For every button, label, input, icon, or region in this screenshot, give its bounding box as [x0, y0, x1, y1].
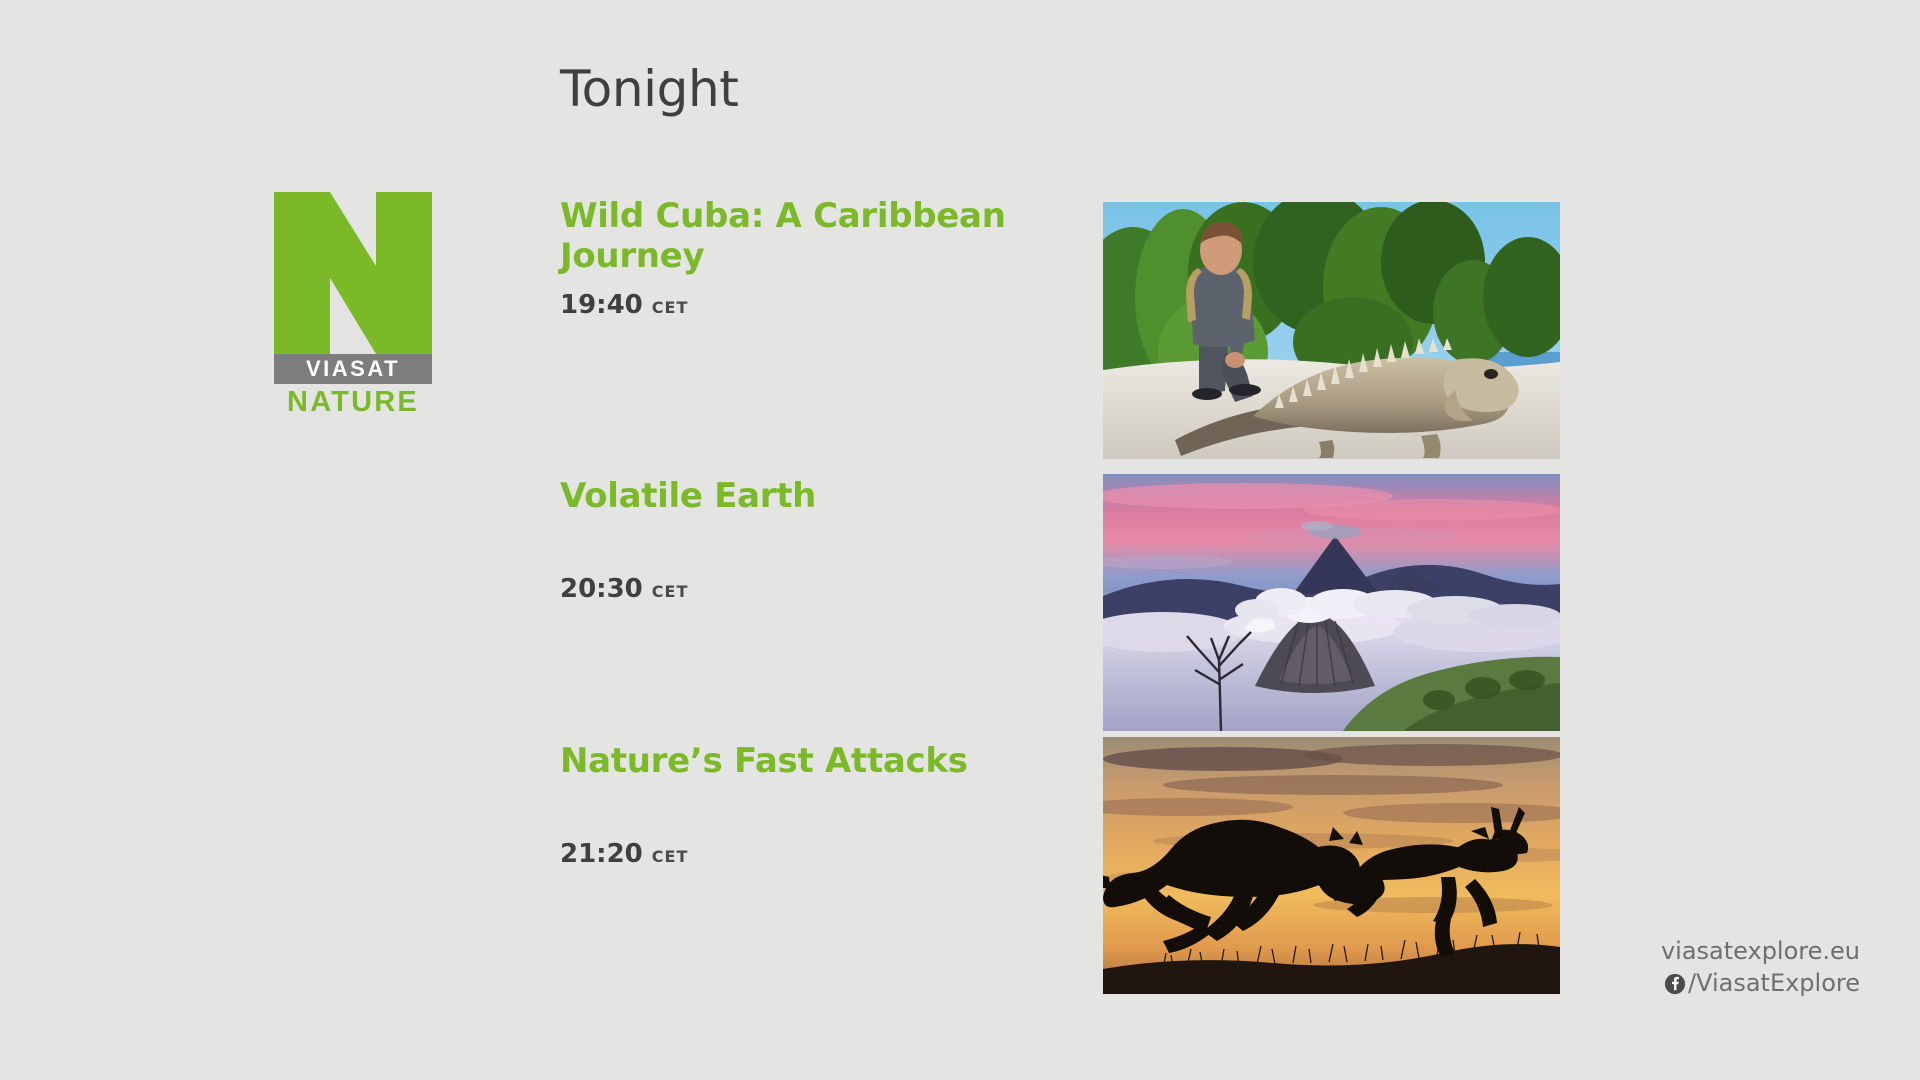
list-item[interactable]: Wild Cuba: A Caribbean Journey 19:40 CET: [560, 196, 1080, 320]
program-time-row: 19:40 CET: [560, 290, 1080, 320]
program-thumbnail-natures-fast-attacks[interactable]: [1103, 737, 1560, 994]
program-thumbnail-volatile-earth[interactable]: [1103, 474, 1560, 731]
logo-n-mark: [274, 192, 432, 354]
tv-schedule-screen: VIASAT NATURE Tonight Wild Cuba: A Carib…: [0, 0, 1920, 1080]
page-title: Tonight: [560, 60, 738, 118]
program-title: Nature’s Fast Attacks: [560, 741, 1080, 781]
facebook-link[interactable]: /ViasatExplore: [1661, 968, 1860, 998]
program-timezone: CET: [652, 847, 689, 866]
list-item[interactable]: Nature’s Fast Attacks 21:20 CET: [560, 741, 1080, 869]
website-url[interactable]: viasatexplore.eu: [1661, 936, 1860, 966]
list-item[interactable]: Volatile Earth 20:30 CET: [560, 476, 1080, 604]
logo-viasat-text: VIASAT: [306, 358, 400, 380]
program-title: Wild Cuba: A Caribbean Journey: [560, 196, 1080, 276]
program-timezone: CET: [652, 582, 689, 601]
facebook-icon: [1664, 972, 1686, 994]
program-time: 19:40: [560, 290, 643, 320]
logo-viasat-bar: VIASAT: [274, 354, 432, 384]
program-timezone: CET: [652, 298, 689, 317]
program-title: Volatile Earth: [560, 476, 1080, 516]
logo-nature-text: NATURE: [274, 386, 432, 418]
program-time-row: 21:20 CET: [560, 839, 1080, 869]
channel-logo: VIASAT NATURE: [274, 192, 432, 418]
footer: viasatexplore.eu /ViasatExplore: [1661, 936, 1860, 998]
program-time-row: 20:30 CET: [560, 574, 1080, 604]
facebook-handle: /ViasatExplore: [1688, 968, 1860, 998]
program-time: 20:30: [560, 574, 643, 604]
program-thumbnail-wild-cuba[interactable]: [1103, 202, 1560, 459]
program-time: 21:20: [560, 839, 643, 869]
